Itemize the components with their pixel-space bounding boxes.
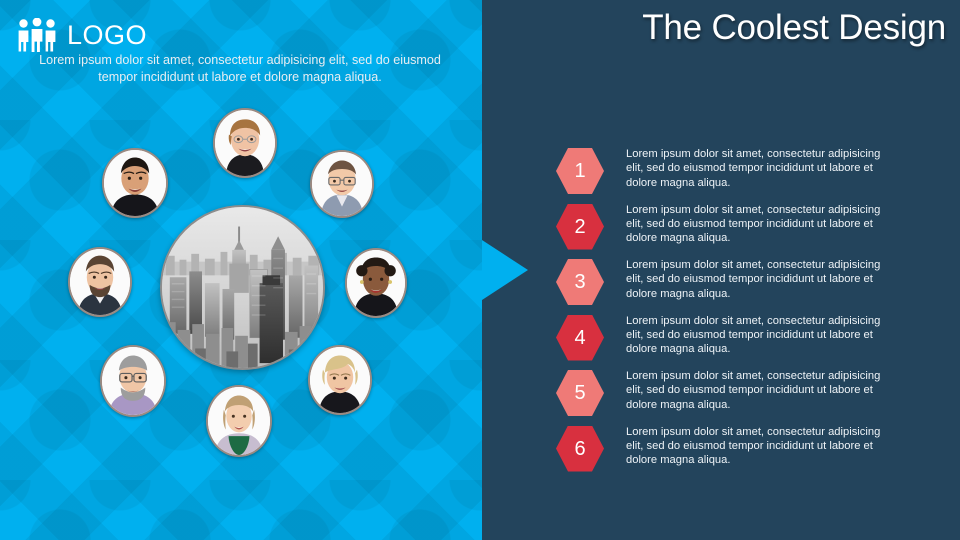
- person-photo-1-image: [215, 110, 275, 176]
- arrow-pointer-icon: [482, 240, 528, 300]
- person-photo-5[interactable]: [206, 385, 272, 457]
- person-photo-8-image: [104, 150, 166, 216]
- hex-number: 2: [574, 217, 585, 237]
- hex-number: 3: [574, 272, 585, 292]
- list-item[interactable]: 1 Lorem ipsum dolor sit amet, consectetu…: [556, 146, 916, 202]
- list-item-text: Lorem ipsum dolor sit amet, consectetur …: [626, 424, 888, 468]
- person-photo-1[interactable]: [213, 108, 277, 178]
- list-item-text: Lorem ipsum dolor sit amet, consectetur …: [626, 368, 888, 412]
- logo-text: LOGO: [67, 22, 147, 49]
- list-item[interactable]: 2 Lorem ipsum dolor sit amet, consectetu…: [556, 202, 916, 258]
- list-item-text: Lorem ipsum dolor sit amet, consectetur …: [626, 257, 888, 301]
- slide-canvas: LOGO: [0, 0, 960, 540]
- page-title: The Coolest Design: [496, 8, 946, 48]
- logo[interactable]: LOGO: [16, 18, 147, 52]
- hex-badge-5: 5: [556, 370, 604, 416]
- hex-badge-2: 2: [556, 204, 604, 250]
- hex-number: 1: [574, 161, 585, 181]
- person-photo-3-image: [347, 250, 405, 316]
- person-photo-3[interactable]: [345, 248, 407, 318]
- hex-badge-6: 6: [556, 426, 604, 472]
- person-photo-7[interactable]: [68, 247, 132, 317]
- list-item[interactable]: 4 Lorem ipsum dolor sit amet, consectetu…: [556, 313, 916, 369]
- city-skyline-photo[interactable]: [160, 205, 325, 370]
- hex-number: 5: [574, 383, 585, 403]
- list-item[interactable]: 3 Lorem ipsum dolor sit amet, consectetu…: [556, 257, 916, 313]
- person-photo-4[interactable]: [308, 345, 372, 415]
- person-photo-2[interactable]: [310, 150, 374, 218]
- person-photo-6[interactable]: [100, 345, 166, 417]
- list-item-text: Lorem ipsum dolor sit amet, consectetur …: [626, 146, 888, 190]
- hex-number: 4: [574, 328, 585, 348]
- list-item[interactable]: 5 Lorem ipsum dolor sit amet, consectetu…: [556, 368, 916, 424]
- person-photo-4-image: [310, 347, 370, 413]
- hex-number: 6: [574, 439, 585, 459]
- list-item-text: Lorem ipsum dolor sit amet, consectetur …: [626, 202, 888, 246]
- person-photo-5-image: [208, 387, 270, 455]
- person-photo-6-image: [102, 347, 164, 415]
- hex-badge-1: 1: [556, 148, 604, 194]
- person-photo-8[interactable]: [102, 148, 168, 218]
- list-item-text: Lorem ipsum dolor sit amet, consectetur …: [626, 313, 888, 357]
- hex-badge-3: 3: [556, 259, 604, 305]
- person-photo-7-image: [70, 249, 130, 315]
- hex-badge-4: 4: [556, 315, 604, 361]
- list-item[interactable]: 6 Lorem ipsum dolor sit amet, consectetu…: [556, 424, 916, 480]
- people-group-icon: [16, 18, 58, 52]
- team-circle-diagram: [0, 0, 482, 540]
- person-photo-2-image: [312, 152, 372, 216]
- numbered-list: 1 Lorem ipsum dolor sit amet, consectetu…: [556, 146, 916, 479]
